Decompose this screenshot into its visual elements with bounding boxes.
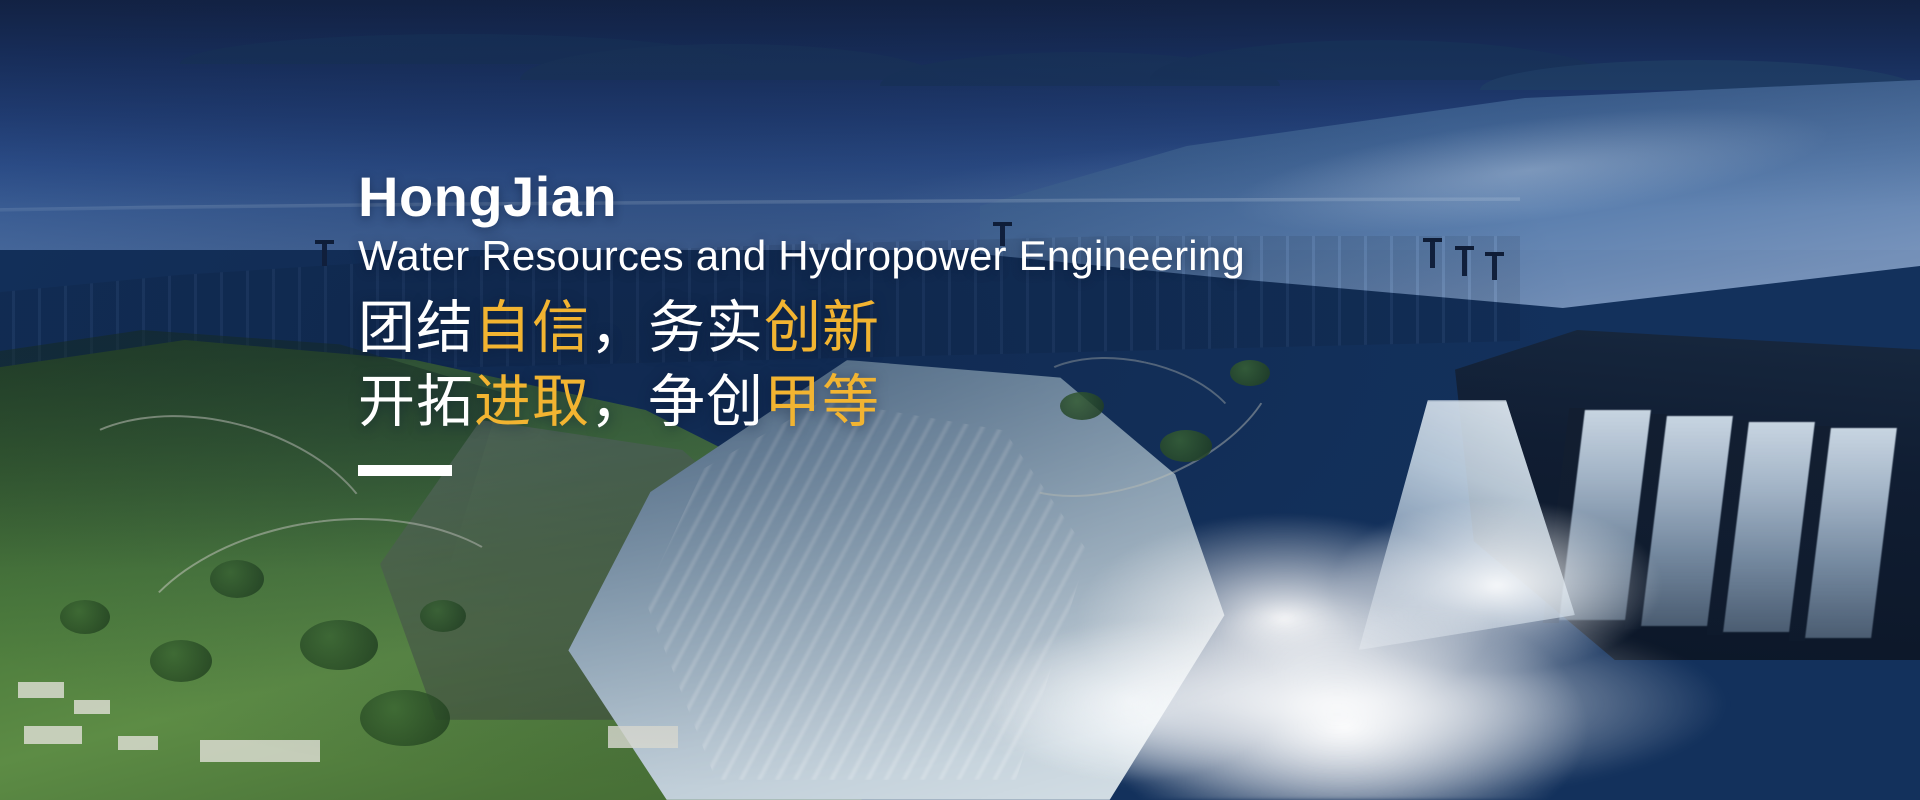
settlement-building	[74, 700, 110, 714]
slogan-1-segment-4: 务实	[648, 295, 764, 361]
brand-title: HongJian	[358, 168, 1478, 225]
slogan-1-segment-5: 创新	[764, 295, 880, 361]
slogan-1-segment-3: ，	[590, 295, 648, 361]
dam-tower	[1492, 252, 1497, 280]
hero-banner: HongJian Water Resources and Hydropower …	[0, 0, 1920, 800]
slogan-2-segment-5: 甲等	[764, 369, 880, 435]
settlement-building	[200, 740, 320, 762]
hero-copy-block: HongJian Water Resources and Hydropower …	[358, 168, 1478, 476]
slogan-line-1: 团结自信，务实创新	[358, 291, 1478, 365]
english-tagline: Water Resources and Hydropower Engineeri…	[358, 231, 1478, 281]
tree-clump	[60, 600, 110, 634]
settlement-building	[24, 726, 82, 744]
spray-mist	[860, 560, 1920, 800]
slogan-2-segment-1: 开拓	[358, 369, 474, 435]
slogan-2-segment-2: 进取	[474, 369, 590, 435]
tree-clump	[420, 600, 466, 632]
slogan-1-segment-1: 团结	[358, 295, 474, 361]
tree-clump	[210, 560, 264, 598]
settlement-building	[608, 726, 678, 748]
settlement-building	[18, 682, 64, 698]
tree-clump	[360, 690, 450, 746]
slogan-line-2: 开拓进取，争创甲等	[358, 365, 1478, 439]
slogan-2-segment-3: ，	[590, 369, 648, 435]
dam-tower	[322, 240, 327, 266]
slogan-1-segment-2: 自信	[474, 295, 590, 361]
slogan-2-segment-4: 争创	[648, 369, 764, 435]
tree-clump	[300, 620, 378, 670]
settlement-building	[118, 736, 158, 750]
accent-underline-bar	[358, 465, 452, 476]
tree-clump	[150, 640, 212, 682]
